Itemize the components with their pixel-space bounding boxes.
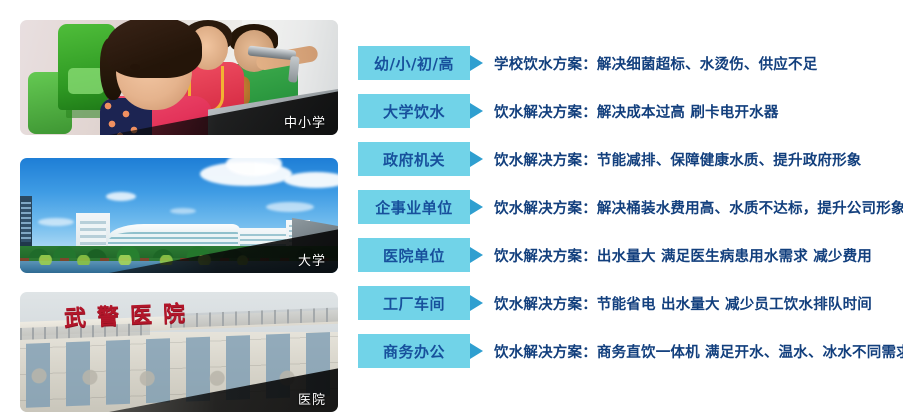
solution-tag-label: 企事业单位 (375, 197, 453, 218)
solution-tag-label: 政府机关 (383, 149, 445, 170)
photo-card-university[interactable]: 大学 (20, 158, 338, 273)
solution-overview-page: 中小学 (0, 0, 903, 420)
arrow-right-icon (470, 103, 483, 119)
solution-tag-factory[interactable]: 工厂车间 (358, 286, 470, 320)
arrow-right-icon (470, 247, 483, 263)
photo-image-university (20, 158, 338, 273)
solution-description: 饮水解决方案：出水量大 满足医生病患用水需求 减少费用 (494, 245, 872, 266)
solution-tag-enterprise[interactable]: 企事业单位 (358, 190, 470, 224)
solution-row-hospital[interactable]: 医院单位 饮水解决方案：出水量大 满足医生病患用水需求 减少费用 (358, 238, 903, 272)
solution-row-government[interactable]: 政府机关 饮水解决方案：节能减排、保障健康水质、提升政府形象 (358, 142, 903, 176)
solution-tag-government[interactable]: 政府机关 (358, 142, 470, 176)
photo-card-primary-school[interactable]: 中小学 (20, 20, 338, 135)
hospital-roof-sign: 武警医院 (63, 295, 196, 333)
photo-image-hospital: 武警医院 (20, 292, 338, 412)
photo-caption-university: 大学 (298, 250, 326, 269)
solution-list: 幼/小/初/高 学校饮水方案：解决细菌超标、水烫伤、供应不足 大学饮水 饮水解决… (358, 46, 903, 382)
photo-caption-hospital: 医院 (298, 389, 326, 408)
photo-card-hospital[interactable]: 武警医院 医院 (20, 292, 338, 412)
solution-description: 饮水解决方案：节能减排、保障健康水质、提升政府形象 (494, 149, 862, 170)
arrow-right-icon (470, 151, 483, 167)
arrow-right-icon (470, 295, 483, 311)
photo-column: 中小学 (20, 20, 338, 412)
solution-description: 饮水解决方案：商务直饮一体机 满足开水、温水、冰水不同需求 (494, 341, 903, 362)
solution-tag-business-office[interactable]: 商务办公 (358, 334, 470, 368)
solution-description: 饮水解决方案：解决成本过高 刷卡电开水器 (494, 101, 779, 122)
solution-tag-label: 商务办公 (383, 341, 445, 362)
solution-description: 学校饮水方案：解决细菌超标、水烫伤、供应不足 (494, 53, 817, 74)
solution-tag-label: 幼/小/初/高 (374, 53, 454, 74)
solution-tag-kindergarten-school[interactable]: 幼/小/初/高 (358, 46, 470, 80)
solution-description: 饮水解决方案：解决桶装水费用高、水质不达标，提升公司形象 (494, 197, 903, 218)
solution-row-business-office[interactable]: 商务办公 饮水解决方案：商务直饮一体机 满足开水、温水、冰水不同需求 (358, 334, 903, 368)
photo-caption-primary-school: 中小学 (284, 112, 326, 131)
solution-row-kindergarten-school[interactable]: 幼/小/初/高 学校饮水方案：解决细菌超标、水烫伤、供应不足 (358, 46, 903, 80)
solution-tag-label: 医院单位 (383, 245, 445, 266)
solution-description: 饮水解决方案：节能省电 出水量大 减少员工饮水排队时间 (494, 293, 872, 314)
solution-row-enterprise[interactable]: 企事业单位 饮水解决方案：解决桶装水费用高、水质不达标，提升公司形象 (358, 190, 903, 224)
solution-row-factory[interactable]: 工厂车间 饮水解决方案：节能省电 出水量大 减少员工饮水排队时间 (358, 286, 903, 320)
arrow-right-icon (470, 55, 483, 71)
solution-row-university[interactable]: 大学饮水 饮水解决方案：解决成本过高 刷卡电开水器 (358, 94, 903, 128)
solution-tag-hospital[interactable]: 医院单位 (358, 238, 470, 272)
solution-tag-university[interactable]: 大学饮水 (358, 94, 470, 128)
solution-tag-label: 大学饮水 (383, 101, 445, 122)
solution-tag-label: 工厂车间 (383, 293, 445, 314)
arrow-right-icon (470, 199, 483, 215)
arrow-right-icon (470, 343, 483, 359)
